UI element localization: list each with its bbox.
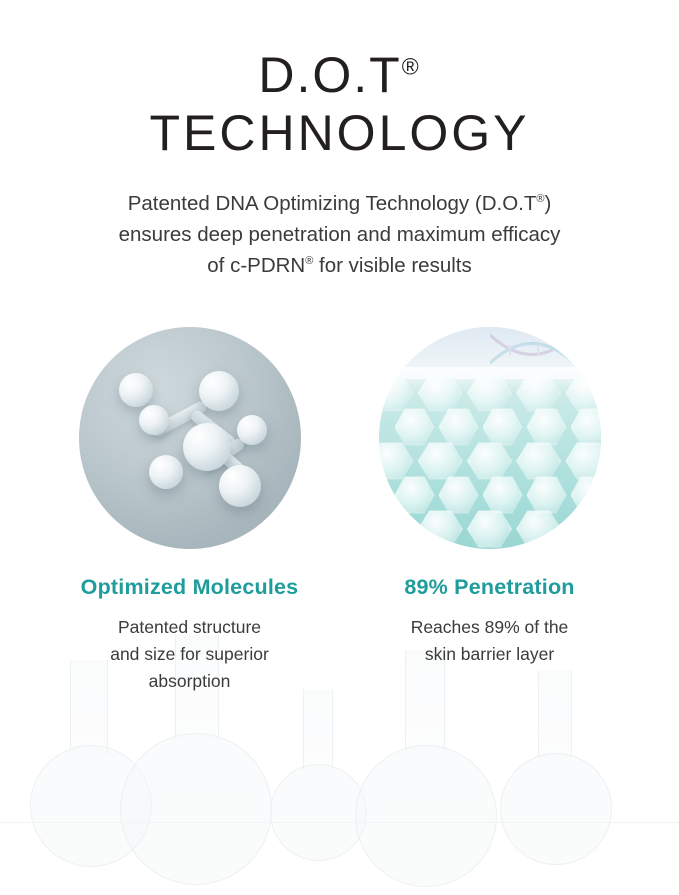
feature-list: Optimized Molecules Patented structure a… [0, 327, 679, 695]
flask-neck [303, 689, 333, 769]
title-line-2: TECHNOLOGY [0, 104, 679, 162]
feature-title: Optimized Molecules [70, 575, 310, 600]
flask-bulb [355, 745, 497, 887]
dna-band [379, 327, 601, 379]
subtitle-line-1-b: ) [544, 192, 551, 215]
title-line-1-text: D.O.T [258, 47, 401, 103]
skin-barrier-honeycomb-illustration [379, 327, 601, 549]
honeycomb-cell [516, 509, 561, 549]
feature-description: Patented structure and size for superior… [70, 614, 310, 695]
honeycomb-cell [467, 509, 512, 549]
honeycomb-cell [379, 509, 414, 549]
molecule-atom [183, 423, 231, 471]
subtitle-line-1: Patented DNA Optimizing Technology (D.O.… [60, 188, 620, 219]
subtitle-line-3-a: of c-PDRN [207, 254, 305, 277]
subtitle-line-1-a: Patented DNA Optimizing Technology (D.O.… [128, 192, 537, 215]
subtitle-line-2: ensures deep penetration and maximum eff… [60, 219, 620, 250]
feature-item-penetration: 89% Penetration Reaches 89% of the skin … [370, 327, 610, 695]
feature-item-optimized-molecules: Optimized Molecules Patented structure a… [70, 327, 310, 695]
flask-bulb [120, 733, 272, 885]
molecule-atom [149, 455, 183, 489]
subtitle: Patented DNA Optimizing Technology (D.O.… [60, 188, 620, 281]
feature-title: 89% Penetration [370, 575, 610, 600]
molecule-illustration [79, 327, 301, 549]
page-title: D.O.T® TECHNOLOGY [0, 46, 679, 162]
dna-helix-icon [490, 329, 601, 375]
feature-desc-line-3: absorption [76, 668, 304, 695]
molecule-atom [219, 465, 261, 507]
subtitle-line-3: of c-PDRN® for visible results [60, 250, 620, 281]
honeycomb-cell [565, 509, 600, 549]
feature-desc-line-2: skin barrier layer [376, 641, 604, 668]
flask-bulb [270, 764, 367, 861]
molecule-atom [119, 373, 153, 407]
molecule-atom [139, 405, 169, 435]
page-root: D.O.T® TECHNOLOGY Patented DNA Optimizin… [0, 46, 679, 695]
feature-desc-line-1: Reaches 89% of the [376, 614, 604, 641]
honeycomb-row [379, 509, 601, 549]
honeycomb-cell [418, 509, 463, 549]
molecule-atom [199, 371, 239, 411]
subtitle-line-3-b: for visible results [313, 254, 471, 277]
registered-mark-title: ® [402, 53, 421, 79]
bench-line [0, 822, 679, 823]
molecule-atom [237, 415, 267, 445]
feature-desc-line-1: Patented structure [76, 614, 304, 641]
honeycomb-grid [379, 373, 601, 549]
flask-bulb [500, 753, 612, 865]
feature-description: Reaches 89% of the skin barrier layer [370, 614, 610, 668]
title-line-1: D.O.T® [0, 46, 679, 104]
feature-desc-line-2: and size for superior [76, 641, 304, 668]
